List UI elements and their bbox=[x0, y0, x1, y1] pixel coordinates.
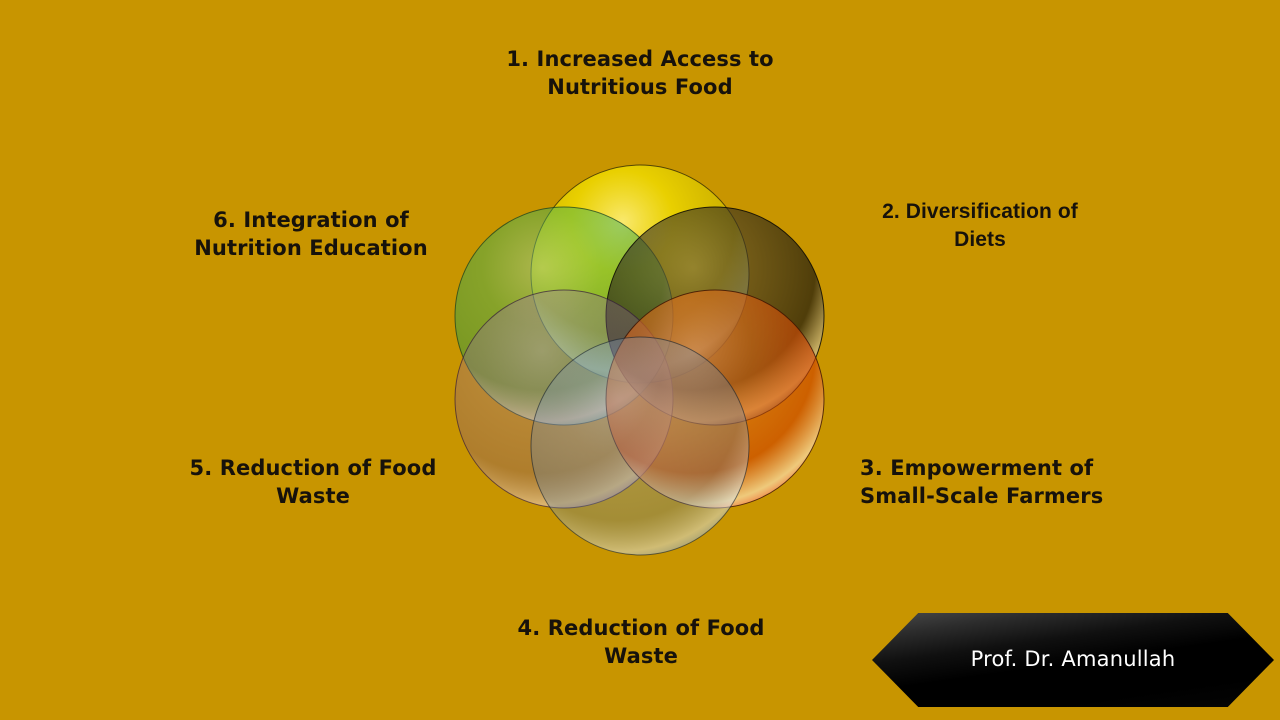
author-banner: Prof. Dr. Amanullah bbox=[872, 613, 1274, 707]
venn-circle-blue bbox=[531, 337, 749, 555]
venn-label-3-empowerment: 3. Empowerment of Small-Scale Farmers bbox=[860, 455, 1150, 511]
venn-label-2-diversification: 2. Diversification of Diets bbox=[844, 198, 1116, 254]
slide-canvas: 1. Increased Access to Nutritious Food 2… bbox=[0, 0, 1280, 720]
author-name: Prof. Dr. Amanullah bbox=[872, 613, 1274, 707]
venn-label-4-reduction-waste: 4. Reduction of Food Waste bbox=[478, 615, 804, 671]
venn-diagram bbox=[0, 0, 1280, 720]
venn-label-6-nutrition-education: 6. Integration of Nutrition Education bbox=[166, 207, 456, 263]
venn-label-5-reduction-waste: 5. Reduction of Food Waste bbox=[166, 455, 460, 511]
venn-label-1-increased-access: 1. Increased Access to Nutritious Food bbox=[440, 46, 840, 102]
